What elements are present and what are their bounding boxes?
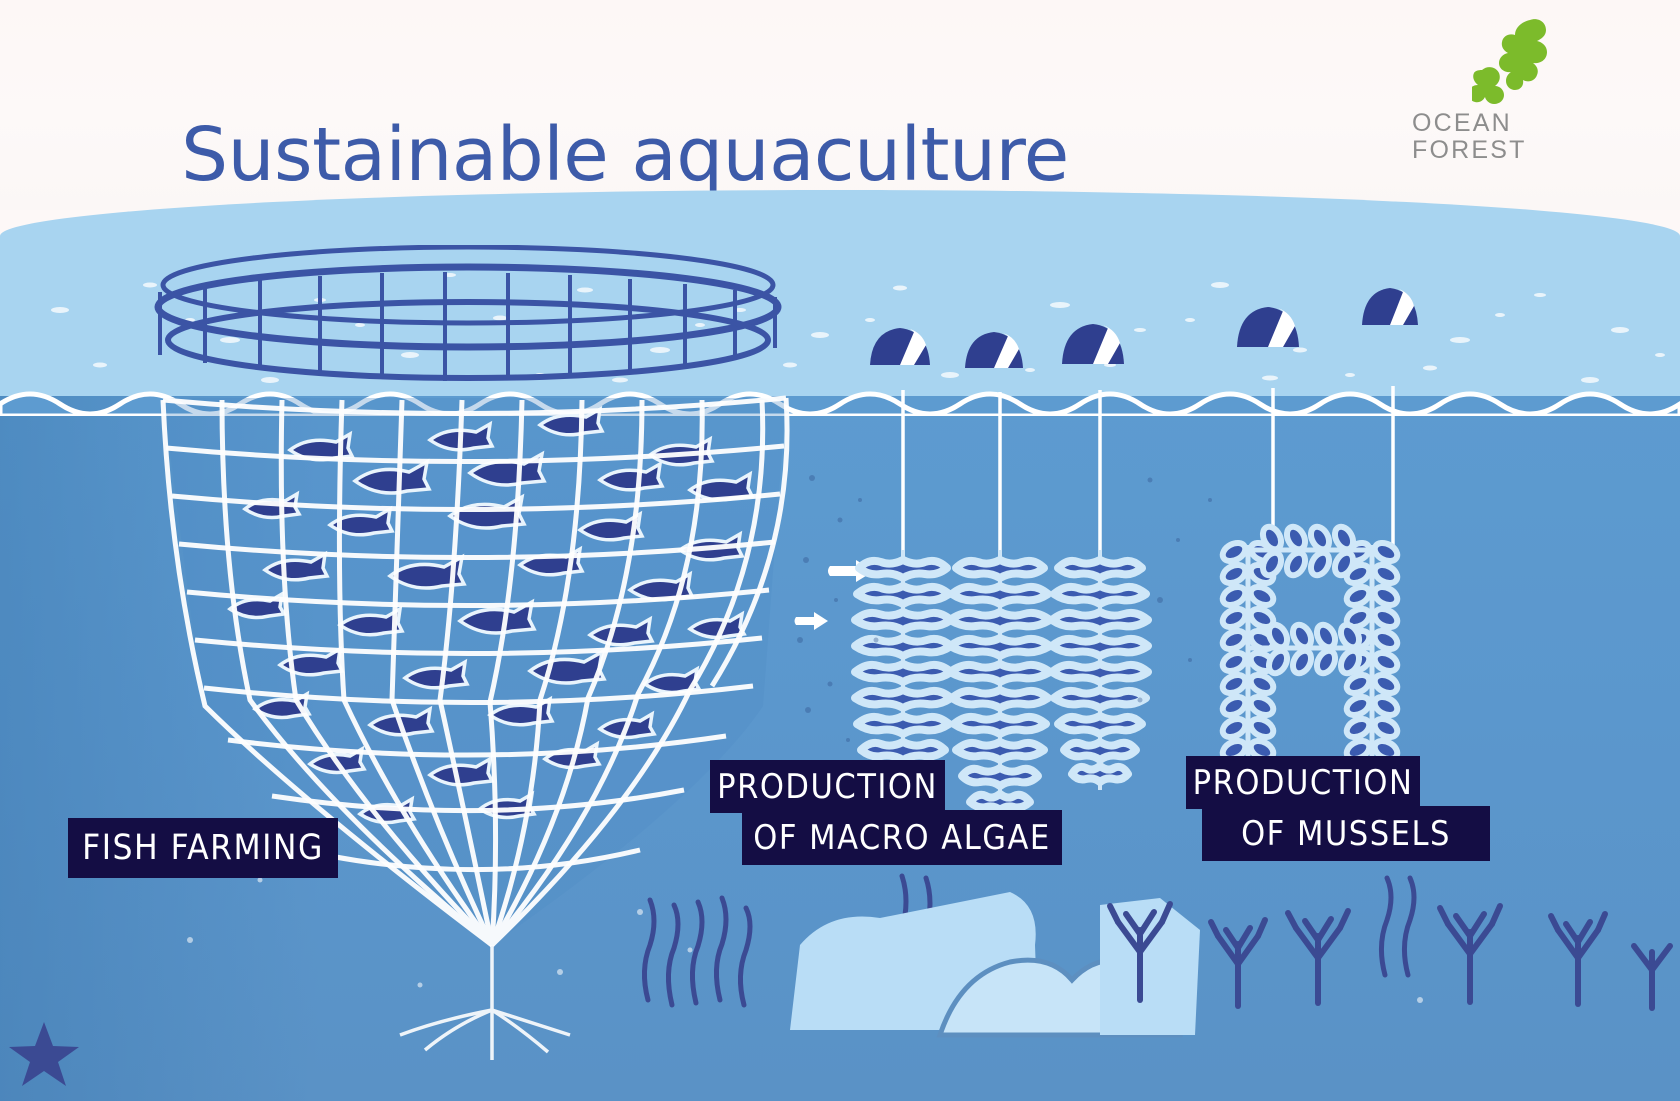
label-macro-algae-line1[interactable]: PRODUCTION [710,760,945,813]
seagrass-icon [644,898,750,1005]
label-mussels-line2[interactable]: OF MUSSELS [1202,806,1490,861]
mussel-rope-icon [1220,524,1401,770]
cage-tether [400,945,570,1060]
starfish-icon [9,1022,79,1086]
label-mussels-line1[interactable]: PRODUCTION [1186,756,1420,809]
buoy-icon [870,288,1418,368]
infographic-canvas: Sustainable aquaculture OCEAN FOREST [0,0,1680,1101]
label-fish-farming[interactable]: FISH FARMING [68,818,338,878]
label-macro-algae-line2[interactable]: OF MACRO ALGAE [742,810,1062,865]
underwater-scene [0,0,1680,1101]
